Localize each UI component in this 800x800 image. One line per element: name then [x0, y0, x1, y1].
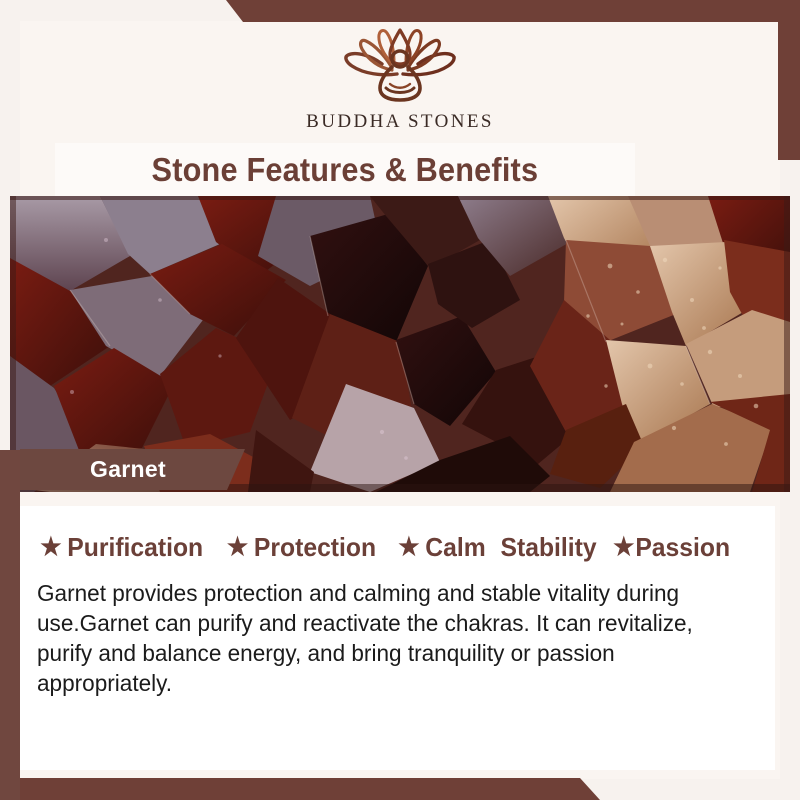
brand-logo: BUDDHA STONES [0, 21, 800, 146]
frame-accent-top [0, 0, 800, 22]
frame-accent-right [778, 0, 800, 160]
benefit-item-protection: ★ Protection [227, 532, 376, 563]
benefit-label: Passion [635, 532, 730, 563]
benefit-label: Stability [501, 532, 597, 563]
brand-name: BUDDHA STONES [306, 111, 494, 133]
garnet-crystal-cluster-photo [10, 196, 790, 492]
star-icon: ★ [399, 535, 420, 560]
benefit-item-stability: Stability [501, 532, 597, 563]
benefit-item-calm: ★ Calm [399, 532, 486, 563]
stone-description: Garnet provides protection and calming a… [37, 578, 730, 698]
benefit-label: Protection [254, 532, 376, 563]
stone-name-banner: Garnet [20, 449, 245, 490]
benefits-list: ★ Purification ★ Protection ★ Calm Stabi… [36, 528, 766, 566]
star-icon: ★ [613, 535, 634, 560]
frame-accent-left [0, 450, 20, 800]
benefit-item-purification: ★ Purification [40, 532, 203, 563]
star-icon: ★ [227, 535, 248, 560]
product-info-card: BUDDHA STONES Stone Features & Benefits [0, 0, 800, 800]
stone-name-label: Garnet [90, 456, 166, 483]
benefit-item-passion: ★ Passion [613, 532, 730, 563]
star-icon: ★ [40, 535, 61, 560]
benefit-label: Calm [426, 532, 486, 563]
page-title: Stone Features & Benefits [152, 151, 539, 189]
lotus-meditation-icon [334, 26, 466, 108]
frame-accent-bottom [0, 778, 800, 800]
benefit-label: Purification [67, 532, 203, 563]
section-title-band: Stone Features & Benefits [55, 143, 635, 196]
